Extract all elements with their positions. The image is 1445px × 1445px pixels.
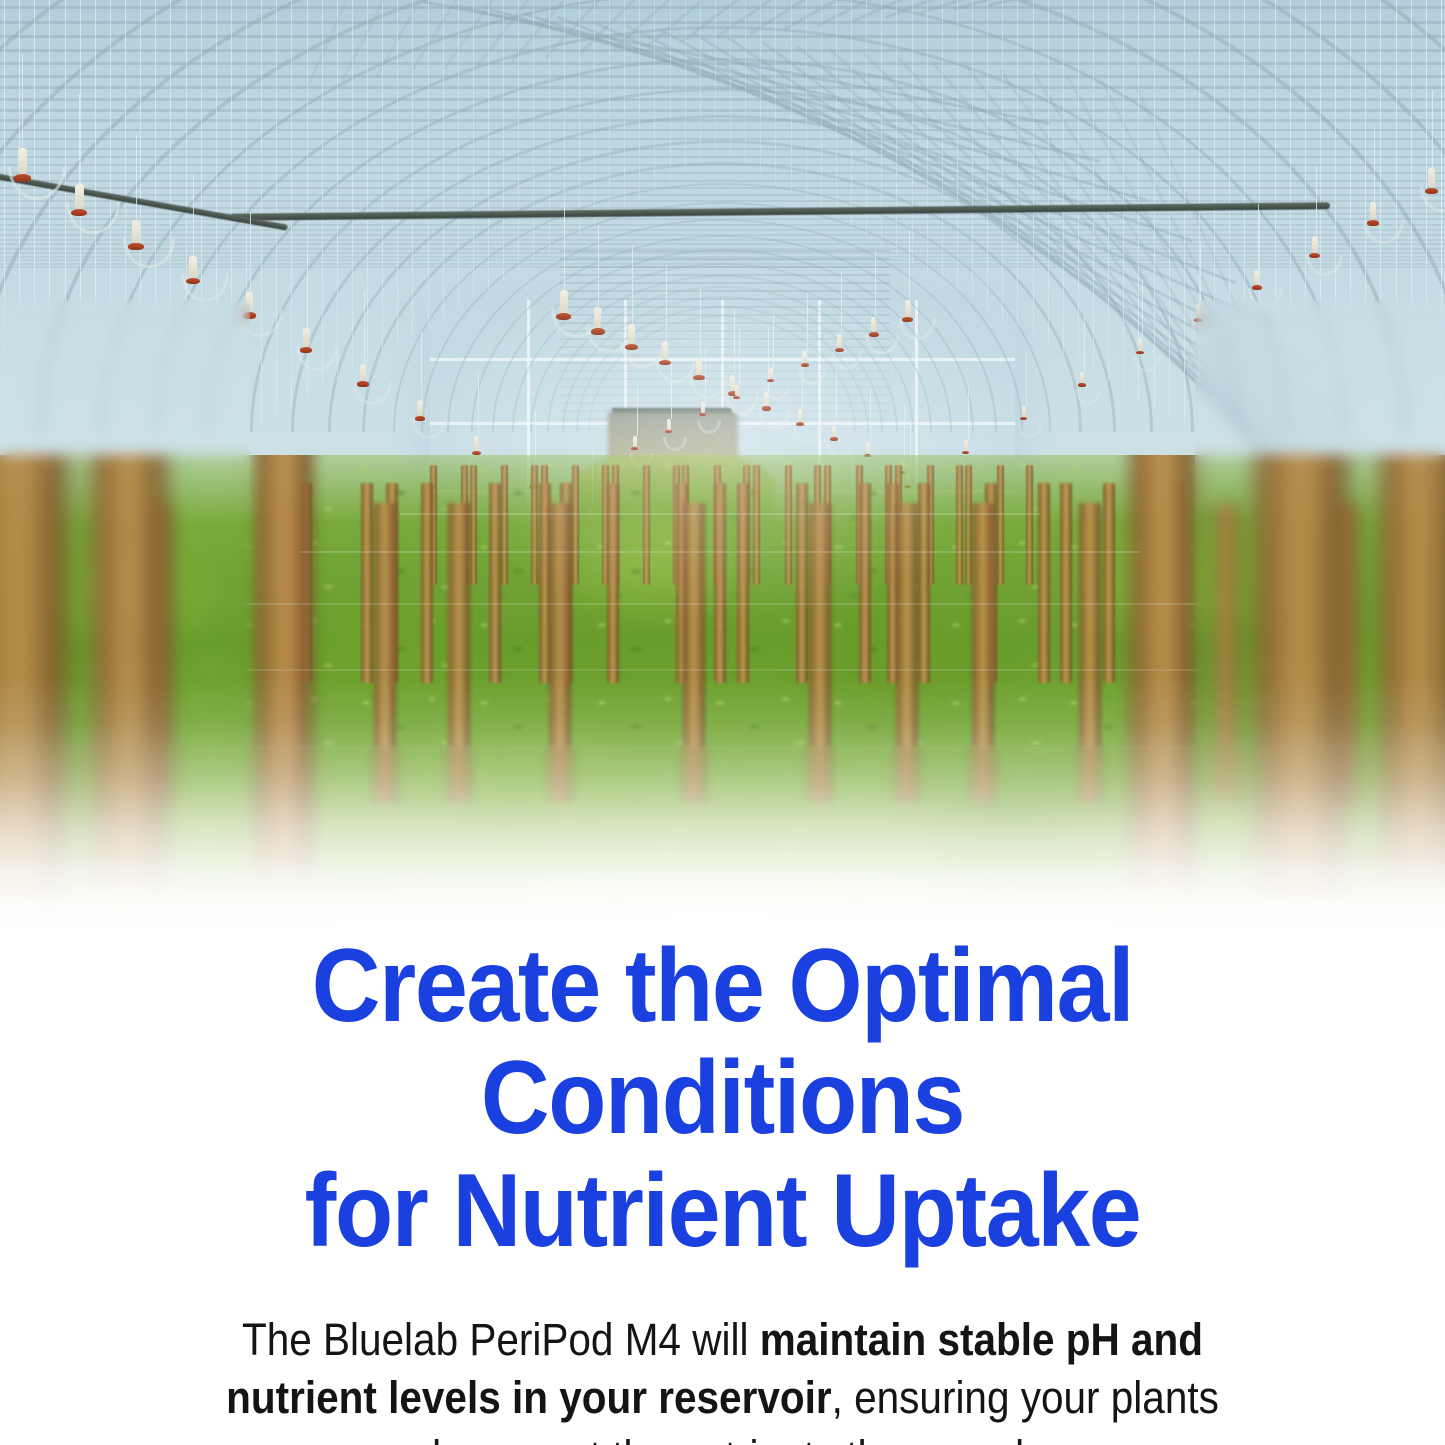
nozzle-drop-wire (1432, 90, 1433, 168)
hanging-wire (927, 0, 928, 272)
plant-support-stake (255, 455, 313, 875)
nozzle-drop-wire (193, 173, 194, 256)
plant-support-stake (753, 465, 760, 585)
nozzle-drop-wire (968, 385, 969, 440)
hanging-wire (1063, 0, 1064, 353)
nozzle-drop-wire (1026, 351, 1027, 406)
nozzle-drop-wire (768, 329, 769, 392)
hanging-wire (912, 0, 913, 263)
hanging-wire (942, 0, 943, 281)
nozzle-drop-wire (250, 213, 251, 292)
hanging-wire (654, 0, 655, 190)
nozzle-cap (1309, 253, 1320, 258)
hanging-wire (80, 0, 81, 533)
nozzle-cap (1078, 383, 1085, 386)
hanging-wire (1229, 0, 1230, 452)
hanging-wire (972, 0, 973, 299)
nozzle-cap (128, 243, 143, 250)
plant-support-stake (501, 465, 508, 585)
plant-support-stake (997, 465, 1004, 585)
hanging-wire (806, 0, 807, 200)
deep-rib (560, 370, 890, 372)
nozzle-body (866, 443, 870, 454)
hanging-wire (1108, 0, 1109, 380)
hanging-wire (367, 0, 368, 361)
nozzle-drop-wire (364, 292, 365, 364)
hanging-wire (1184, 0, 1185, 425)
nozzle-body (735, 385, 739, 396)
trellis-wire (400, 513, 1040, 515)
hanging-wire (473, 0, 474, 298)
nozzle-body (18, 148, 27, 174)
nozzle-cap (835, 348, 844, 352)
hanging-wire (700, 0, 701, 163)
nozzle-drop-wire (671, 364, 672, 419)
nozzle-body (1428, 168, 1435, 188)
hanging-wire (412, 0, 413, 334)
hanging-wire (745, 0, 746, 164)
hanging-wire (382, 0, 383, 352)
marketing-banner: Create the Optimal Conditions for Nutrie… (0, 0, 1445, 1445)
plant-support-stake (361, 483, 373, 683)
plant-support-stake (374, 503, 396, 803)
nozzle-drop-wire (836, 370, 837, 426)
hanging-wire (957, 0, 958, 290)
nozzle-body (1254, 270, 1259, 285)
nozzle-body (417, 400, 423, 416)
plant-support-stake (972, 503, 994, 803)
plant-support-stake (956, 465, 963, 585)
deep-rib (560, 266, 890, 268)
plant-support-stake (785, 465, 792, 585)
plant-support-stake (0, 455, 66, 925)
hanging-wire (261, 0, 262, 424)
nozzle-cap (1367, 220, 1379, 226)
nozzle-drop-wire (909, 230, 910, 300)
nozzle-cap (869, 332, 879, 337)
nozzle-cap (591, 328, 605, 335)
hanging-wire (730, 0, 731, 155)
nozzle-body (964, 440, 968, 451)
nozzle-body (1370, 202, 1376, 220)
nozzle-body (871, 317, 876, 332)
deep-rib (560, 258, 890, 260)
nozzle-drop-wire (773, 313, 774, 368)
hanging-wire (428, 0, 429, 325)
plant-support-stake (1380, 455, 1445, 885)
nozzle-drop-wire (421, 332, 422, 400)
nozzle-drop-wire (1258, 204, 1259, 270)
trellis-wire (0, 747, 1445, 749)
nozzle-body (1022, 406, 1026, 417)
hanging-wire (201, 0, 202, 461)
plant-support-stake (809, 503, 831, 803)
hanging-wire (1048, 0, 1049, 344)
hero-image (0, 0, 1445, 945)
nozzle-body (560, 290, 568, 313)
nozzle-cap (71, 209, 87, 217)
nozzle-body (1196, 304, 1201, 318)
nozzle-drop-wire (598, 225, 599, 307)
hanging-wire (322, 0, 323, 388)
nozzle-body (189, 256, 197, 278)
hanging-wire (518, 0, 519, 271)
subcopy-lead: The Bluelab PeriPod M4 will (242, 1314, 760, 1365)
hanging-wire (791, 0, 792, 191)
page-title: Create the Optimal Conditions for Nutrie… (89, 930, 1356, 1267)
nozzle-drop-wire (564, 204, 565, 290)
hanging-wire (715, 0, 716, 154)
nozzle-drop-wire (1374, 128, 1375, 202)
hanging-wire (1259, 0, 1260, 470)
hanging-wire (685, 0, 686, 172)
nozzle-drop-wire (739, 330, 740, 385)
hanging-wire (1350, 0, 1351, 524)
hanging-wire (836, 0, 837, 218)
nozzle-body (1138, 338, 1142, 351)
nozzle-drop-wire (637, 381, 638, 436)
hanging-wire (291, 0, 292, 406)
nozzle-body (132, 220, 140, 243)
hanging-wire (896, 0, 897, 254)
nozzle-body (303, 328, 310, 347)
nozzle-body (667, 419, 671, 430)
hanging-wire (1033, 0, 1034, 335)
hanging-wire (337, 0, 338, 379)
crop-bed (0, 455, 1445, 945)
nozzle-body (75, 184, 84, 209)
nozzle-body (594, 307, 601, 328)
greenhouse-photo (0, 0, 1445, 945)
nozzle-drop-wire (1084, 317, 1085, 372)
hanging-wire (609, 0, 610, 217)
nozzle-drop-wire (705, 347, 706, 402)
nozzle-body (662, 341, 668, 360)
plant-support-stake (448, 503, 470, 803)
hanging-wire (1214, 0, 1215, 443)
nozzle-cap (693, 375, 704, 380)
plant-support-stake (1079, 503, 1101, 803)
plant-support-stake (1026, 465, 1033, 585)
nozzle-body (360, 364, 366, 381)
plant-support-stake (1060, 483, 1072, 683)
nozzle-body (696, 358, 702, 375)
nozzle-drop-wire (1316, 166, 1317, 236)
nozzle-drop-wire (79, 94, 80, 184)
hanging-wire (1093, 0, 1094, 371)
nozzle-drop-wire (841, 272, 842, 334)
hanging-wire (276, 0, 277, 415)
deep-rib (560, 410, 890, 412)
plant-support-stake (1038, 483, 1050, 683)
hanging-wire (1244, 0, 1245, 461)
nozzle-body (1312, 236, 1318, 253)
hanging-wire (775, 0, 776, 182)
hanging-wire (443, 0, 444, 316)
nozzle-body (803, 351, 807, 363)
nozzle-cap (902, 317, 913, 322)
nozzle-body (1080, 372, 1084, 383)
hanging-wire (987, 0, 988, 308)
hanging-wire (1275, 0, 1276, 479)
trellis-wire (300, 551, 1140, 553)
nozzle-drop-wire (734, 308, 735, 375)
deep-rib (560, 250, 890, 252)
nozzle-cap (1425, 188, 1438, 194)
nozzle-cap (556, 313, 571, 320)
nozzle-body (837, 334, 842, 348)
trellis-wire (190, 603, 1250, 605)
plant-support-stake (1215, 503, 1237, 803)
hanging-wire (1305, 0, 1306, 497)
nozzle-body (474, 436, 479, 451)
nozzle-body (798, 409, 802, 422)
nozzle-cap (796, 422, 804, 426)
plant-support-stake (643, 465, 650, 585)
hanging-wire (866, 0, 867, 236)
deep-rib (560, 418, 890, 420)
hanging-wire (594, 0, 595, 226)
plant-support-stake (1130, 455, 1196, 895)
nozzle-body (769, 368, 773, 379)
hanging-wire (670, 0, 671, 181)
hanging-wire (624, 0, 625, 208)
nozzle-cap (625, 344, 638, 350)
nozzle-body (628, 324, 635, 344)
copy-block: Create the Optimal Conditions for Nutrie… (0, 930, 1445, 1445)
hanging-wire (1002, 0, 1003, 317)
hanging-wire (760, 0, 761, 173)
nozzle-drop-wire (1200, 241, 1201, 304)
nozzle-cap (243, 312, 256, 318)
plant-support-stake (92, 455, 166, 895)
hanging-wire (579, 0, 580, 235)
hanging-wire (639, 0, 640, 199)
plant-support-stake (1255, 455, 1347, 910)
hanging-wire (1078, 0, 1079, 362)
nozzle-body (905, 300, 911, 317)
plant-support-stake (1103, 483, 1115, 683)
nozzle-drop-wire (632, 246, 633, 324)
trellis-wire (80, 669, 1360, 671)
hanging-wire (458, 0, 459, 307)
hanging-wire (1017, 0, 1018, 326)
plant-support-stake (683, 503, 705, 803)
plant-support-stake (531, 465, 538, 585)
hanging-wire (851, 0, 852, 227)
nozzle-cap (1252, 285, 1262, 290)
hanging-wire (533, 0, 534, 262)
hanging-wire (110, 0, 111, 515)
hanging-wire (352, 0, 353, 370)
nozzle-cap (186, 278, 200, 285)
plant-support-stake (549, 503, 571, 803)
nozzle-drop-wire (904, 405, 905, 460)
hanging-wire (1123, 0, 1124, 389)
hanging-wire (397, 0, 398, 343)
nozzle-cap (801, 363, 809, 367)
hanging-wire (1365, 0, 1366, 533)
nozzle-drop-wire (1142, 279, 1143, 338)
nozzle-cap (357, 381, 368, 386)
nozzle-cap (415, 416, 425, 421)
nozzle-body (633, 436, 637, 447)
subcopy-paragraph: The Bluelab PeriPod M4 will maintain sta… (99, 1311, 1346, 1445)
nozzle-drop-wire (870, 388, 871, 443)
hanging-wire (1290, 0, 1291, 488)
hanging-wire (821, 0, 822, 209)
nozzle-drop-wire (478, 372, 479, 436)
hanging-wire (1320, 0, 1321, 506)
plant-support-stake (470, 465, 477, 585)
nozzle-drop-wire (666, 266, 667, 341)
nozzle-drop-wire (700, 287, 701, 358)
nozzle-drop-wire (875, 251, 876, 317)
hanging-wire (186, 0, 187, 470)
nozzle-cap (762, 406, 771, 410)
hanging-wire (488, 0, 489, 289)
nozzle-cap (300, 347, 312, 353)
nozzle-drop-wire (307, 253, 308, 328)
nozzle-drop-wire (136, 133, 137, 220)
nozzle-drop-wire (22, 54, 23, 148)
nozzle-drop-wire (807, 293, 808, 351)
nozzle-body (832, 426, 836, 437)
nozzle-body (701, 402, 705, 413)
plant-support-stake (896, 503, 918, 803)
nozzle-cap (830, 437, 837, 441)
hanging-wire (216, 0, 217, 451)
nozzle-body (246, 292, 253, 312)
nozzle-cap (14, 174, 31, 182)
plant-support-stake (572, 465, 579, 585)
hanging-wire (503, 0, 504, 280)
hanging-wire (1199, 0, 1200, 434)
hanging-wire (95, 0, 96, 524)
